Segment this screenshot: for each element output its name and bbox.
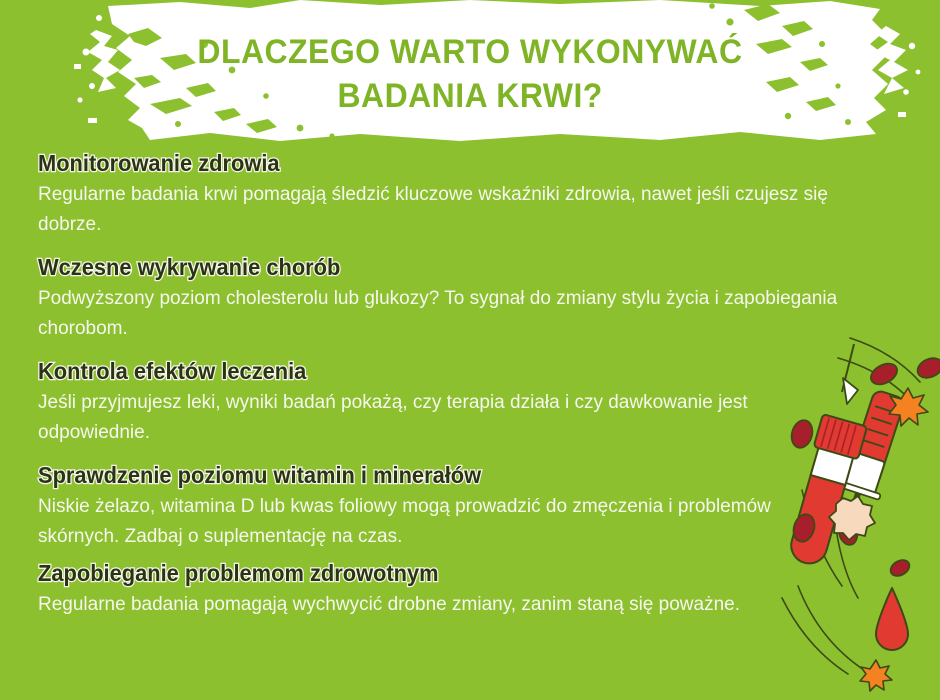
section-body: Jeśli przyjmujesz leki, wyniki badań pok… <box>38 388 838 448</box>
section-item: Kontrola efektów leczenia Jeśli przyjmuj… <box>38 356 868 448</box>
section-heading: Kontrola efektów leczenia <box>38 356 827 386</box>
section-heading: Wczesne wykrywanie chorób <box>38 252 827 282</box>
section-item: Wczesne wykrywanie chorób Podwyższony po… <box>38 252 868 344</box>
section-body: Regularne badania krwi pomagają śledzić … <box>38 180 838 240</box>
sections-list: Monitorowanie zdrowia Regularne badania … <box>38 148 868 620</box>
section-body: Niskie żelazo, witamina D lub kwas folio… <box>38 492 838 552</box>
section-heading: Sprawdzenie poziomu witamin i minerałów <box>38 460 827 490</box>
title-line-2: BADANIA KRWI? <box>337 77 602 115</box>
section-item: Sprawdzenie poziomu witamin i minerałów … <box>38 460 868 552</box>
header-banner: DLACZEGO WARTO WYKONYWAĆ BADANIA KRWI? <box>0 0 940 148</box>
platelet-star-icon <box>860 388 928 691</box>
section-body: Regularne badania pomagają wychwycić dro… <box>38 590 838 620</box>
section-item: Zapobieganie problemom zdrowotnym Regula… <box>38 558 868 620</box>
infographic-poster: DLACZEGO WARTO WYKONYWAĆ BADANIA KRWI? M… <box>0 0 940 700</box>
title-line-1: DLACZEGO WARTO WYKONYWAĆ <box>197 33 742 71</box>
section-item: Monitorowanie zdrowia Regularne badania … <box>38 148 868 240</box>
blood-drop-icon <box>876 588 908 650</box>
section-heading: Zapobieganie problemom zdrowotnym <box>38 558 827 588</box>
section-body: Podwyższony poziom cholesterolu lub gluk… <box>38 284 838 344</box>
section-heading: Monitorowanie zdrowia <box>38 148 827 178</box>
page-title: DLACZEGO WARTO WYKONYWAĆ BADANIA KRWI? <box>0 0 940 148</box>
